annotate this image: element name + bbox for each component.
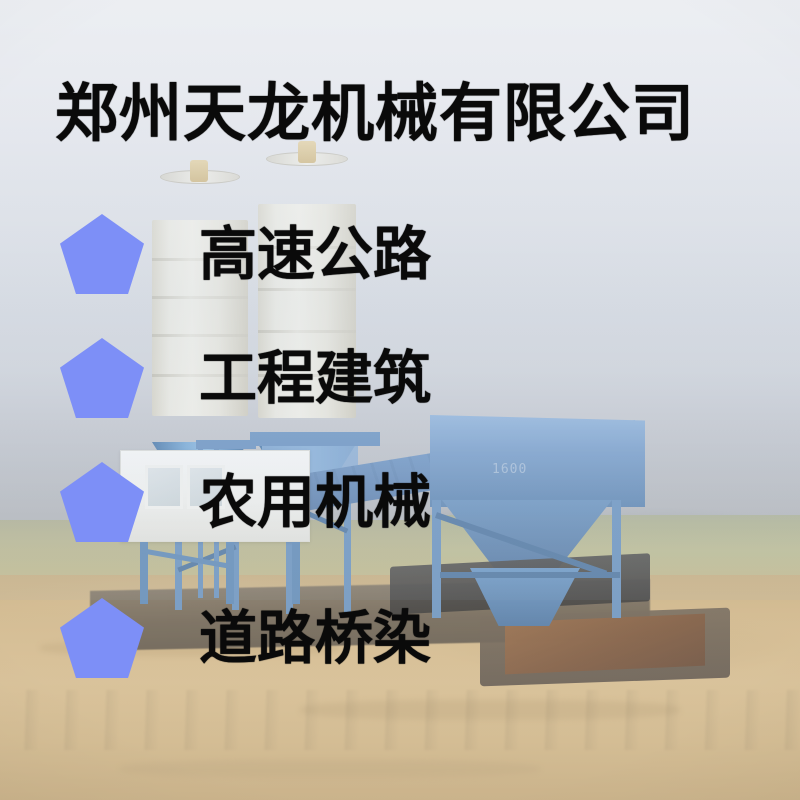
feature-label-3: 农用机械 [199,472,431,532]
text-overlay: 郑州天龙机械有限公司 高速公路 工程建筑 农用机械 道路桥染 [0,0,800,800]
feature-label-1: 高速公路 [199,224,431,284]
company-title: 郑州天龙机械有限公司 [55,78,695,150]
pentagon-bullet-icon [60,598,144,678]
pentagon-bullet-icon [60,214,144,294]
feature-item-4: 道路桥染 [60,598,431,678]
feature-item-2: 工程建筑 [60,338,431,418]
feature-item-1: 高速公路 [60,214,431,294]
feature-item-3: 农用机械 [60,462,431,542]
pentagon-bullet-icon [60,462,144,542]
pentagon-bullet-icon [60,338,144,418]
feature-label-4: 道路桥染 [199,608,431,668]
feature-label-2: 工程建筑 [199,348,431,408]
banner-image: 1600 郑州天龙机械有限公司 高速公路 工程建筑 [0,0,800,800]
